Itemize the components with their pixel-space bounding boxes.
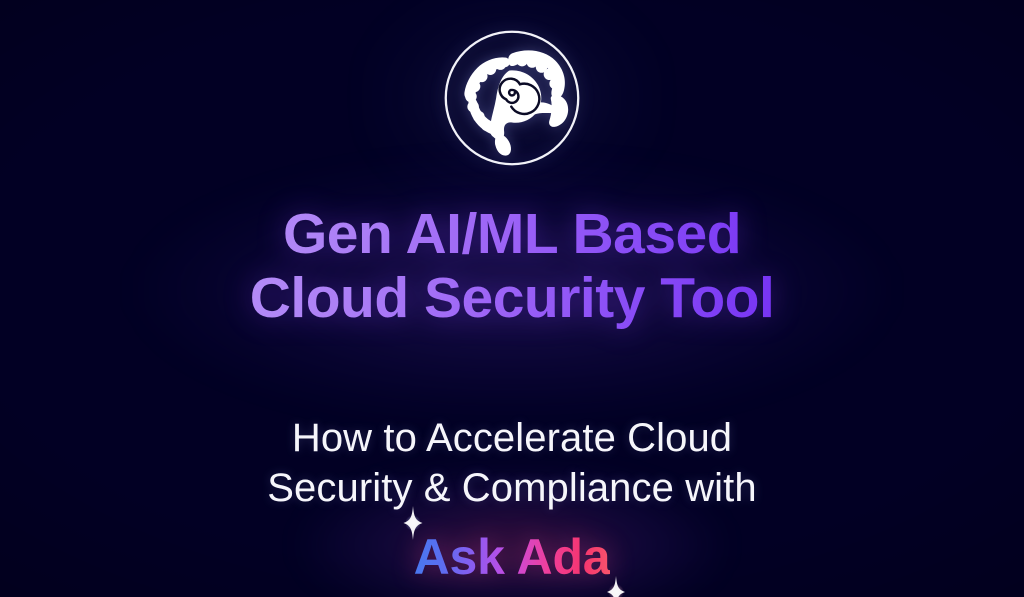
ram-head-logo-icon: [440, 26, 584, 170]
presentation-slide: Gen AI/ML Based Cloud Security Tool How …: [0, 0, 1024, 597]
subtitle: How to Accelerate Cloud Security & Compl…: [267, 413, 756, 514]
subtitle-line-1: How to Accelerate Cloud: [267, 413, 756, 463]
slide-content: Gen AI/ML Based Cloud Security Tool How …: [0, 0, 1024, 597]
headline-line-2: Cloud Security Tool: [250, 266, 775, 330]
subtitle-line-2: Security & Compliance with: [267, 463, 756, 513]
headline-line-1: Gen AI/ML Based: [250, 202, 775, 266]
brand-name: Ask Ada: [414, 528, 611, 586]
page-title: Gen AI/ML Based Cloud Security Tool: [250, 202, 775, 331]
brand-row: Ask Ada: [414, 522, 611, 592]
logo: [440, 26, 584, 170]
